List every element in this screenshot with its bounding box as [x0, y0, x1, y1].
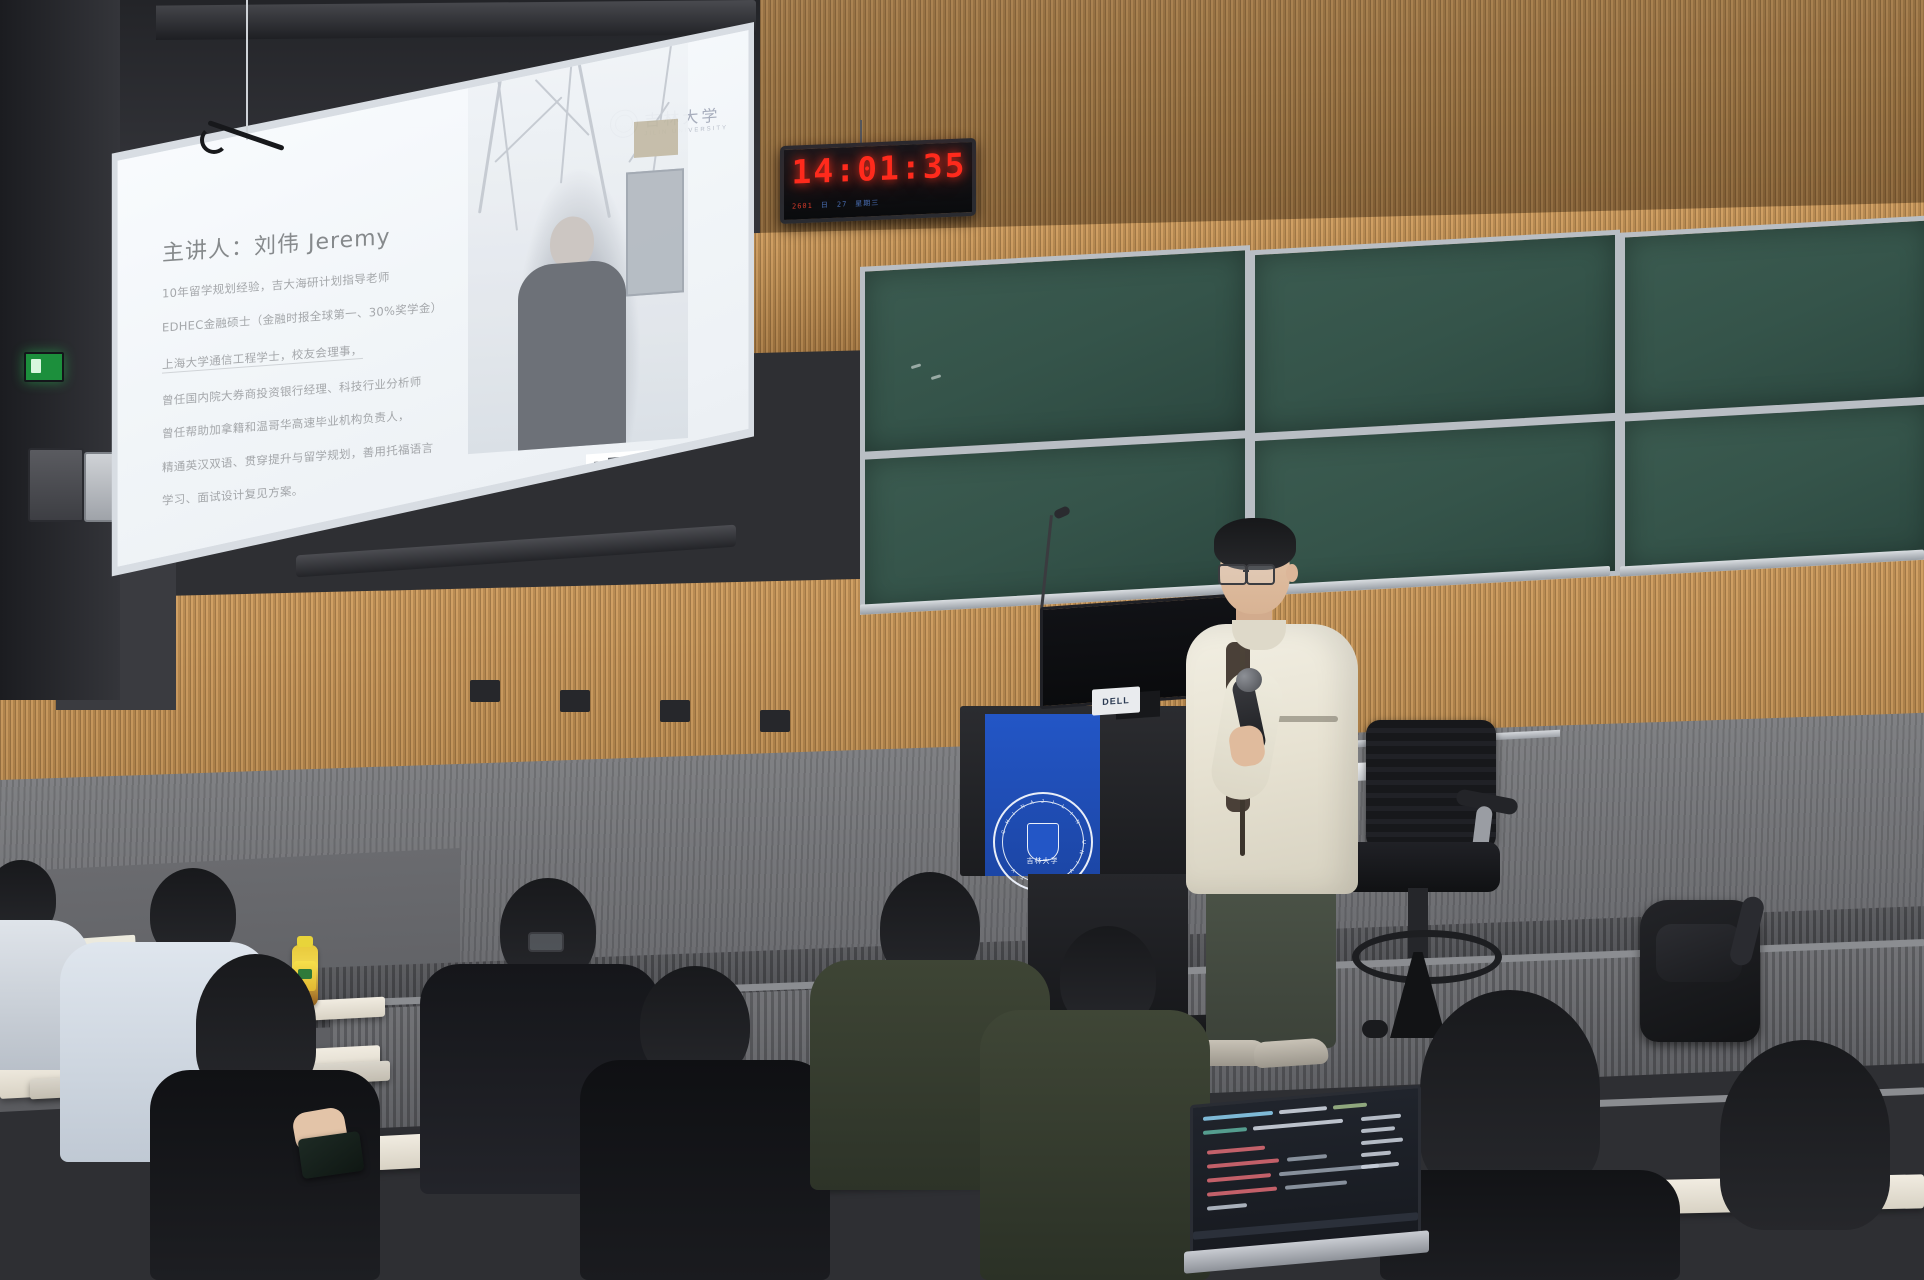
- slide-bullet: 曾任国内院大券商投资银行经理、科技行业分析师: [162, 373, 462, 407]
- portrait-person: [512, 212, 632, 451]
- slide-title: 主讲人：刘伟 Jeremy: [162, 219, 391, 268]
- bottle-cap: [297, 936, 313, 947]
- qr-code-modules: [591, 450, 711, 579]
- student-body: [1380, 1170, 1680, 1280]
- lecture-hall-photo: 吉林大学 JILIN UNIVERSITY 主讲人：刘伟 Jeremy 10年留…: [0, 0, 1924, 1280]
- wall-vent: [760, 710, 790, 732]
- student-head: [1420, 990, 1600, 1190]
- wall-control-box[interactable]: [28, 448, 84, 522]
- blackboard-panel: [1250, 230, 1620, 439]
- portrait-background-door: [626, 168, 684, 296]
- seal-letter: ·: [1001, 851, 1007, 854]
- blackboard-wall: [860, 176, 1924, 646]
- seal-letter: Y: [1011, 867, 1018, 874]
- emergency-exit-sign: [24, 352, 64, 382]
- seal-letter: U: [1080, 840, 1086, 844]
- seal-letter: N: [1074, 819, 1081, 825]
- seal-letter: I: [1012, 811, 1017, 816]
- seal-letter: I: [1051, 800, 1054, 806]
- seal-letter: N: [1078, 850, 1085, 855]
- qr-finder-icon: [674, 454, 708, 490]
- blackboard-panel: [1620, 215, 1924, 419]
- portrait-background-sign: [634, 119, 678, 158]
- projection-screen: 吉林大学 JILIN UNIVERSITY 主讲人：刘伟 Jeremy 10年留…: [96, 0, 766, 700]
- clock-sub-left: 2601: [792, 202, 813, 211]
- seal-letter: N: [1019, 804, 1025, 811]
- student-laptop[interactable]: [1190, 1095, 1425, 1280]
- student-head: [1720, 1040, 1890, 1230]
- podium-front-panel: JILIN UNIVERSITY · CHINA 吉林大学: [985, 714, 1100, 876]
- presenter-jacket-logo: [1276, 716, 1338, 722]
- slide-bullet: 曾任帮助加拿籍和温哥华高速毕业机构负责人，: [162, 407, 462, 441]
- seal-letter: C: [1000, 829, 1007, 834]
- student-body: [150, 1070, 380, 1280]
- seal-letter: L: [1060, 804, 1066, 811]
- screen-pull-cord[interactable]: [246, 0, 248, 140]
- presentation-slide: 吉林大学 JILIN UNIVERSITY 主讲人：刘伟 Jeremy 10年留…: [116, 24, 753, 574]
- slide-bullet: 10年留学规划经验，吉大海研计划指导老师: [162, 267, 462, 301]
- presenter-glasses: [1218, 564, 1247, 585]
- blackboard-panel: [860, 245, 1250, 457]
- slide-bullet-list: 10年留学规划经验，吉大海研计划指导老师 EDHEC金融硕士（金融时报全球第一、…: [162, 267, 462, 530]
- student-glasses: [528, 932, 564, 952]
- slide-bullet: 精通英汉双语、贯穿提升与留学规划，善用托福语言: [162, 440, 462, 474]
- clock-sub-item: 27: [837, 200, 847, 208]
- student-jacket: [980, 1010, 1210, 1280]
- presenter-hair: [1214, 518, 1296, 570]
- speaker-portrait-photo: [468, 24, 688, 454]
- wall-vent: [660, 700, 690, 722]
- blackboard-panel: [1620, 399, 1924, 577]
- projected-slide-area: 吉林大学 JILIN UNIVERSITY 主讲人：刘伟 Jeremy 10年留…: [108, 24, 753, 580]
- slide-bullet: 上海大学通信工程学士，校友会理事，: [162, 345, 363, 373]
- seal-letter: T: [1020, 873, 1026, 880]
- presenter-ear: [1286, 564, 1298, 582]
- seal-letter: H: [1004, 819, 1011, 825]
- qr-center-logo-icon: [633, 495, 669, 534]
- slide-bullet: EDHEC金融硕士（金融时报全球第一、30%奖学金）: [162, 300, 462, 334]
- seal-letter: I: [1068, 811, 1073, 816]
- seal-letter: I: [1074, 860, 1080, 864]
- podium-seal-cn-text: 吉林大学: [1027, 856, 1059, 866]
- seal-letter: V: [1067, 867, 1074, 874]
- glasses-bridge-icon: [1243, 570, 1249, 572]
- audience-foreground: [0, 880, 1924, 1280]
- presenter-glasses: [1246, 564, 1275, 585]
- seal-letter: A: [1030, 800, 1035, 807]
- seal-letter: J: [1041, 799, 1044, 805]
- projection-screen-weight-bar: [296, 525, 736, 578]
- student-body: [580, 1060, 830, 1280]
- monitor-brand-label: DELL: [1092, 686, 1140, 715]
- screen-pull-hook-icon[interactable]: [200, 126, 228, 154]
- clock-sub-item: 日: [821, 200, 829, 210]
- clock-hanger: [860, 120, 862, 144]
- smartphone[interactable]: [298, 1131, 365, 1179]
